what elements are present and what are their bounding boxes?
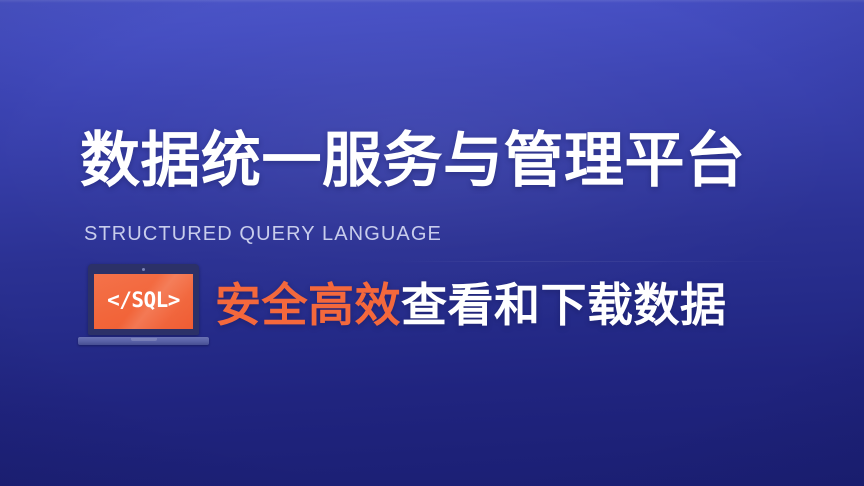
page-title: 数据统一服务与管理平台 (80, 131, 800, 191)
laptop-lid: </SQL> (88, 264, 199, 335)
sql-code-tag-icon: </SQL> (107, 290, 180, 311)
headline-secondary: 安全高效查看和下载数据 (215, 282, 727, 328)
laptop-screen: </SQL> (94, 274, 193, 329)
laptop-illustration: </SQL> (78, 264, 209, 346)
faint-divider-rule (400, 261, 800, 262)
laptop-base-notch (131, 338, 157, 341)
laptop-camera-icon (142, 268, 145, 271)
headline-secondary-accent: 安全高效 (215, 278, 401, 332)
top-sheen-overlay (0, 0, 864, 3)
slide-canvas: 数据统一服务与管理平台 STRUCTURED QUERY LANGUAGE </… (0, 0, 864, 486)
headline-secondary-rest: 查看和下载数据 (401, 278, 727, 332)
subtitle-latin: STRUCTURED QUERY LANGUAGE (84, 223, 442, 246)
